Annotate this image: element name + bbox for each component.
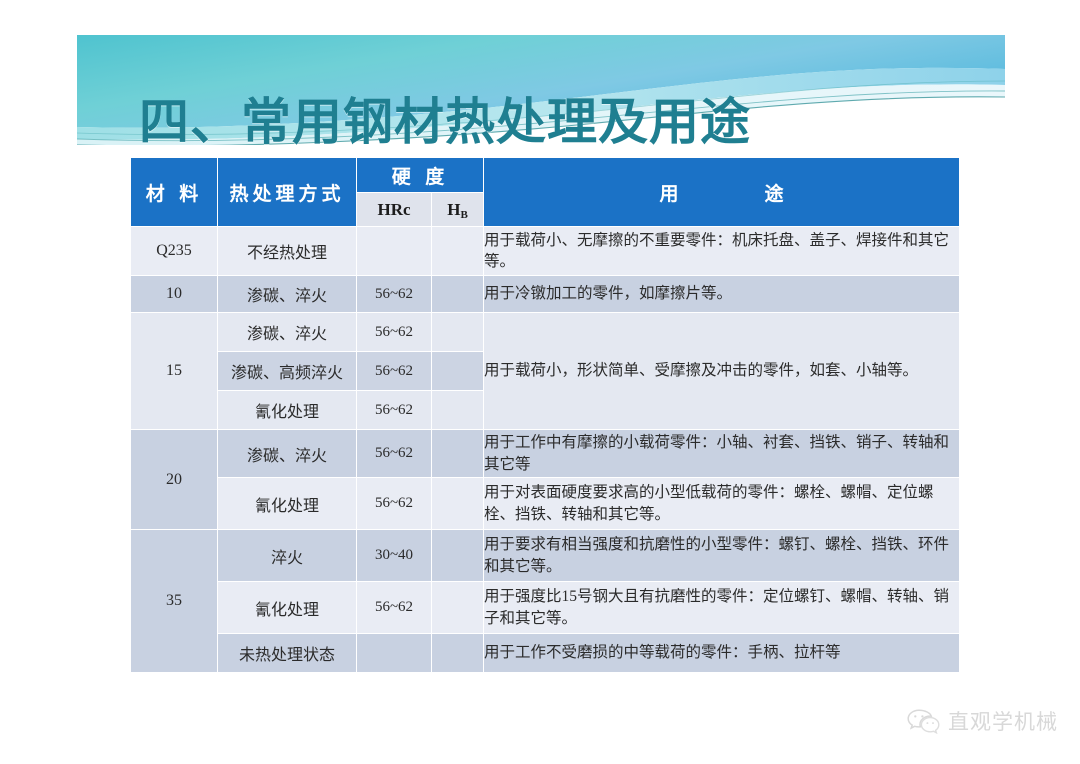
cell-hrc xyxy=(357,634,432,673)
cell-usage: 用于载荷小、无摩擦的不重要零件：机床托盘、盖子、焊接件和其它等。 xyxy=(484,227,960,276)
cell-hb xyxy=(432,582,484,634)
table-row: 氰化处理 56~62 用于对表面硬度要求高的小型低载荷的零件：螺栓、螺帽、定位螺… xyxy=(131,478,960,530)
cell-treatment: 渗碳、淬火 xyxy=(218,430,357,478)
cell-material: 20 xyxy=(131,430,218,530)
cell-usage: 用于工作不受磨损的中等载荷的零件：手柄、拉杆等 xyxy=(484,634,960,673)
cell-hb xyxy=(432,313,484,352)
cell-usage: 用于强度比15号钢大且有抗磨性的零件：定位螺钉、螺帽、转轴、销子和其它等。 xyxy=(484,582,960,634)
cell-hrc: 56~62 xyxy=(357,430,432,478)
steel-heat-treatment-table: 材 料 热处理方式 硬 度 用途 HRc HB Q235 不经热处理 xyxy=(130,157,959,673)
wechat-icon xyxy=(906,708,940,734)
header-usage: 用途 xyxy=(484,158,960,227)
cell-hb xyxy=(432,227,484,276)
cell-material: 35 xyxy=(131,530,218,673)
header-hb-main: H xyxy=(447,200,460,219)
cell-usage: 用于工作中有摩擦的小载荷零件：小轴、衬套、挡铁、销子、转轴和其它等 xyxy=(484,430,960,478)
cell-hrc: 56~62 xyxy=(357,313,432,352)
cell-hb xyxy=(432,634,484,673)
cell-hb xyxy=(432,430,484,478)
table-row: 未热处理状态 用于工作不受磨损的中等载荷的零件：手柄、拉杆等 xyxy=(131,634,960,673)
cell-hrc: 56~62 xyxy=(357,478,432,530)
header-usage-right: 途 xyxy=(765,183,784,205)
table-row: 氰化处理 56~62 用于强度比15号钢大且有抗磨性的零件：定位螺钉、螺帽、转轴… xyxy=(131,582,960,634)
header-usage-left: 用 xyxy=(659,183,678,205)
cell-usage: 用于载荷小，形状简单、受摩擦及冲击的零件，如套、小轴等。 xyxy=(484,313,960,430)
cell-hrc: 56~62 xyxy=(357,352,432,391)
cell-hb xyxy=(432,391,484,430)
cell-material: 10 xyxy=(131,276,218,313)
slide-root: 四、常用钢材热处理及用途 材 料 热处理方式 硬 度 用途 HRc HB xyxy=(0,0,1080,764)
table-header-row-1: 材 料 热处理方式 硬 度 用途 xyxy=(131,158,960,193)
page-title: 四、常用钢材热处理及用途 xyxy=(139,82,751,154)
cell-usage: 用于要求有相当强度和抗磨性的小型零件：螺钉、螺栓、挡铁、环件和其它等。 xyxy=(484,530,960,582)
cell-treatment: 淬火 xyxy=(218,530,357,582)
watermark: 直观学机械 xyxy=(906,706,1058,736)
header-hb: HB xyxy=(432,193,484,227)
cell-hb xyxy=(432,530,484,582)
cell-hrc xyxy=(357,227,432,276)
cell-hrc: 56~62 xyxy=(357,391,432,430)
table-row: 35 淬火 30~40 用于要求有相当强度和抗磨性的小型零件：螺钉、螺栓、挡铁、… xyxy=(131,530,960,582)
cell-hb xyxy=(432,276,484,313)
header-material: 材 料 xyxy=(131,158,218,227)
cell-treatment: 不经热处理 xyxy=(218,227,357,276)
header-treatment: 热处理方式 xyxy=(218,158,357,227)
cell-hrc: 56~62 xyxy=(357,582,432,634)
cell-treatment: 渗碳、高频淬火 xyxy=(218,352,357,391)
cell-usage: 用于冷镦加工的零件，如摩擦片等。 xyxy=(484,276,960,313)
table-row: 20 渗碳、淬火 56~62 用于工作中有摩擦的小载荷零件：小轴、衬套、挡铁、销… xyxy=(131,430,960,478)
cell-hb xyxy=(432,352,484,391)
header-hardness: 硬 度 xyxy=(357,158,484,193)
cell-treatment: 氰化处理 xyxy=(218,391,357,430)
cell-treatment: 渗碳、淬火 xyxy=(218,276,357,313)
cell-treatment: 未热处理状态 xyxy=(218,634,357,673)
cell-treatment: 渗碳、淬火 xyxy=(218,313,357,352)
cell-hb xyxy=(432,478,484,530)
table-row: Q235 不经热处理 用于载荷小、无摩擦的不重要零件：机床托盘、盖子、焊接件和其… xyxy=(131,227,960,276)
cell-treatment: 氰化处理 xyxy=(218,478,357,530)
table-row: 10 渗碳、淬火 56~62 用于冷镦加工的零件，如摩擦片等。 xyxy=(131,276,960,313)
table-row: 15 渗碳、淬火 56~62 用于载荷小，形状简单、受摩擦及冲击的零件，如套、小… xyxy=(131,313,960,352)
cell-hrc: 30~40 xyxy=(357,530,432,582)
cell-usage: 用于对表面硬度要求高的小型低载荷的零件：螺栓、螺帽、定位螺栓、挡铁、转轴和其它等… xyxy=(484,478,960,530)
cell-material: Q235 xyxy=(131,227,218,276)
cell-treatment: 氰化处理 xyxy=(218,582,357,634)
cell-hrc: 56~62 xyxy=(357,276,432,313)
header-hb-sub: B xyxy=(460,209,467,221)
header-hrc: HRc xyxy=(357,193,432,227)
watermark-label: 直观学机械 xyxy=(948,706,1058,736)
cell-material: 15 xyxy=(131,313,218,430)
